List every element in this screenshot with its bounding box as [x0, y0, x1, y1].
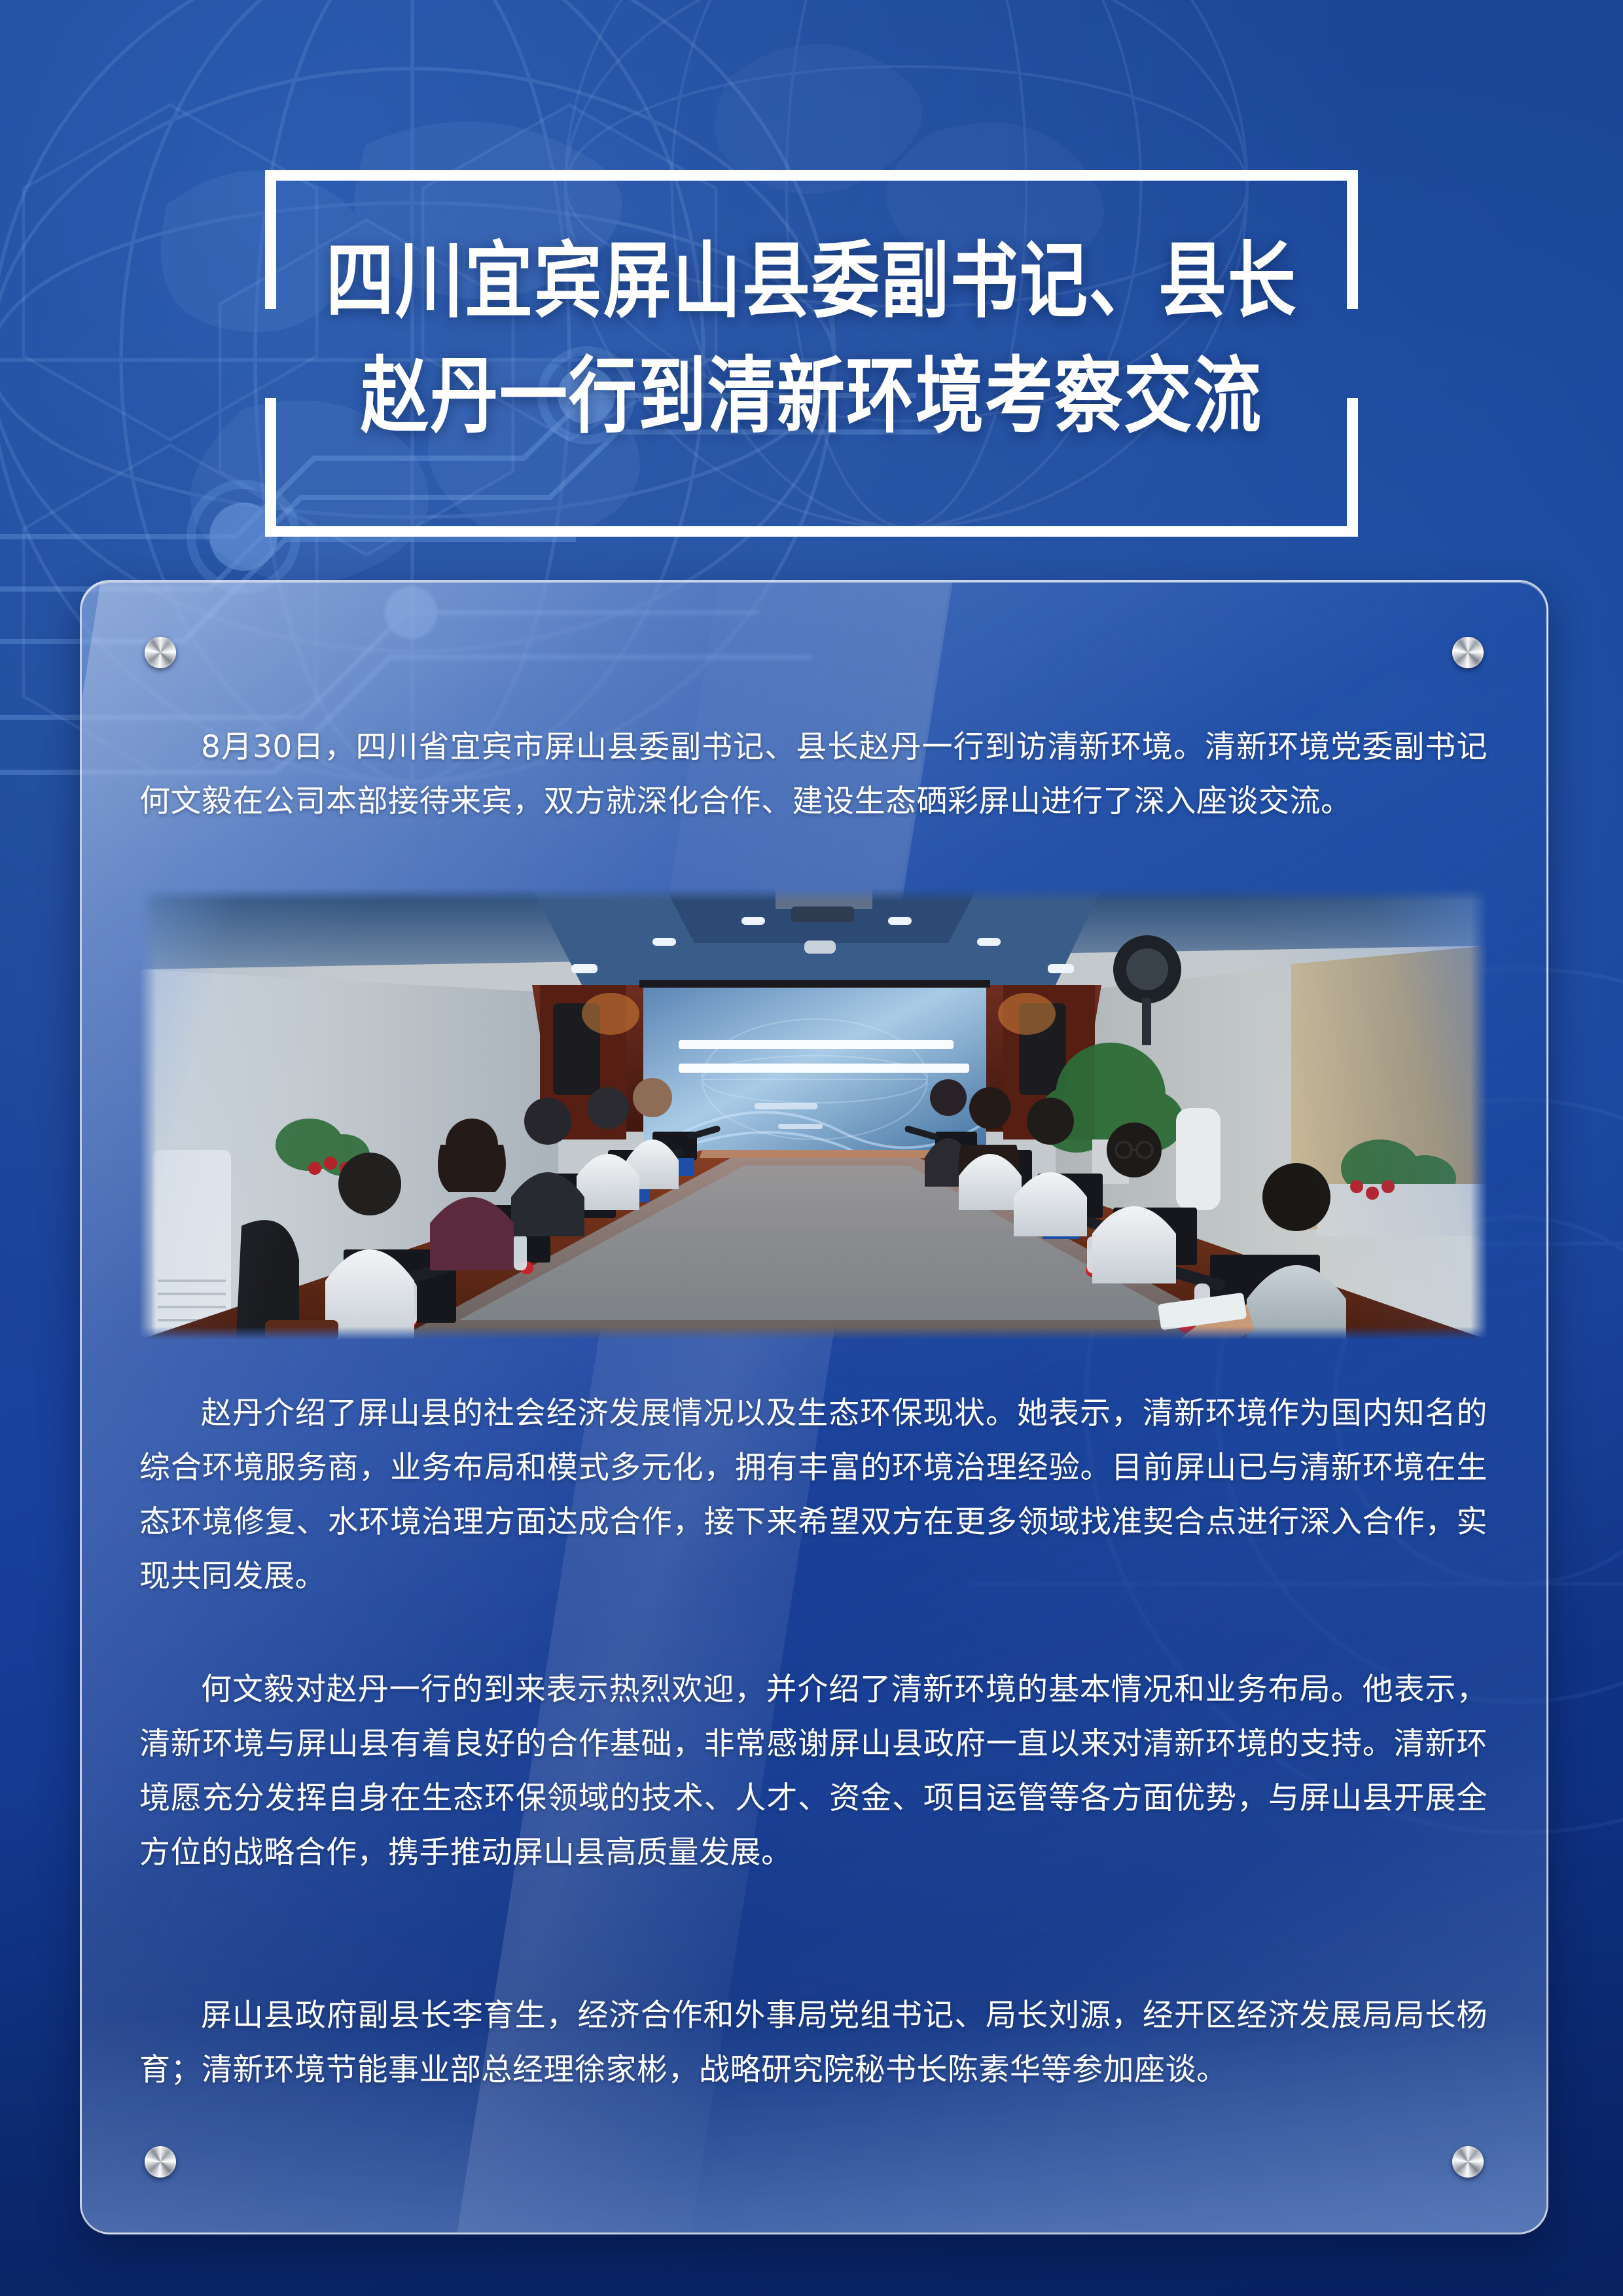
- article-paragraph-1: 8月30日，四川省宜宾市屏山县委副书记、县长赵丹一行到访清新环境。清新环境党委副…: [139, 720, 1488, 829]
- page-title: 四川宜宾屏山县委副书记、县长 赵丹一行到清新环境考察交流: [0, 226, 1623, 431]
- meeting-photo: [139, 888, 1488, 1340]
- poster-header: 四川宜宾屏山县委副书记、县长 赵丹一行到清新环境考察交流: [0, 149, 1623, 581]
- page-title-line-1: 四川宜宾屏山县委副书记、县长: [0, 226, 1623, 335]
- meeting-photo-illustration: [139, 888, 1488, 1340]
- article-card: 8月30日，四川省宜宾市屏山县委副书记、县长赵丹一行到访清新环境。清新环境党委副…: [80, 580, 1548, 2234]
- bracket-top-bar: [265, 170, 1358, 181]
- article-paragraph-4: 屏山县政府副县长李育生，经济合作和外事局党组书记、局长刘源，经开区经济发展局局长…: [139, 1988, 1488, 2097]
- poster-root: 四川宜宾屏山县委副书记、县长 赵丹一行到清新环境考察交流 8月30日，四川省宜宾…: [0, 0, 1623, 2296]
- article-paragraph-2: 赵丹介绍了屏山县的社会经济发展情况以及生态环保现状。她表示，清新环境作为国内知名…: [139, 1386, 1488, 1604]
- bracket-bottom-bar: [265, 526, 1358, 537]
- article-paragraph-3: 何文毅对赵丹一行的到来表示热烈欢迎，并介绍了清新环境的基本情况和业务布局。他表示…: [139, 1662, 1488, 1880]
- article-content: 8月30日，四川省宜宾市屏山县委副书记、县长赵丹一行到访清新环境。清新环境党委副…: [82, 582, 1546, 2233]
- page-title-line-2: 赵丹一行到清新环境考察交流: [0, 342, 1623, 450]
